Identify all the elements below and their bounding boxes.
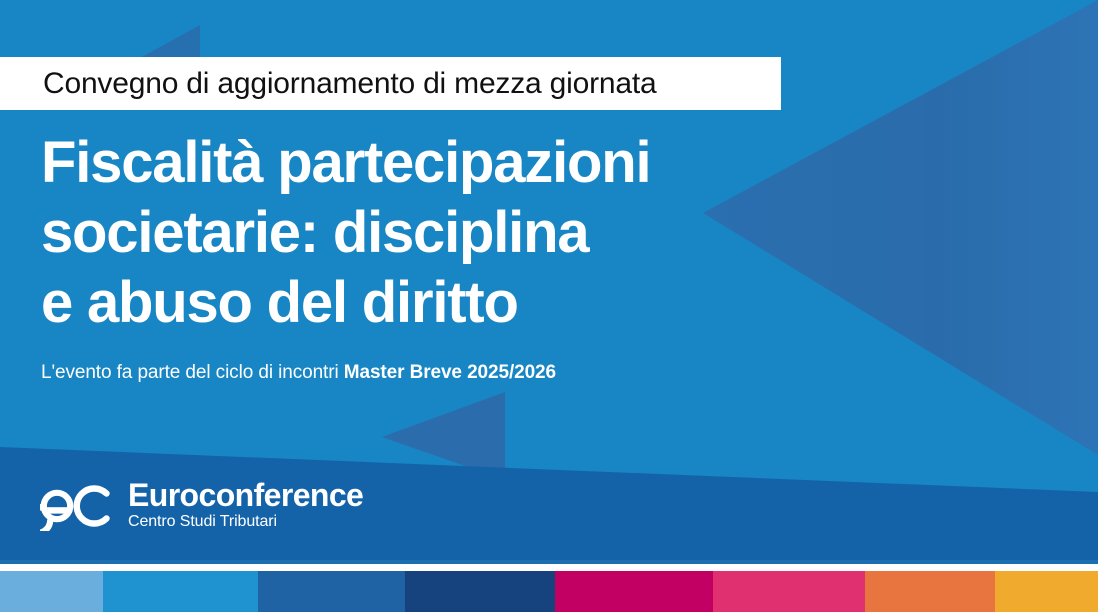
kicker-strip: Convegno di aggiornamento di mezza giorn… (0, 57, 781, 110)
band-magenta (555, 571, 713, 612)
ec-monogram-icon (40, 481, 116, 531)
strip-white-gap (0, 564, 1098, 571)
brand-logo: Euroconference Centro Studi Tributari (40, 479, 363, 533)
band-steel-blue (258, 571, 405, 612)
kicker-text: Convegno di aggiornamento di mezza giorn… (43, 69, 656, 99)
page-title: Fiscalità partecipazioni societarie: dis… (41, 128, 841, 338)
title-line-2: societarie: disciplina (41, 198, 841, 268)
band-light-blue (0, 571, 103, 612)
event-promo-banner: Convegno di aggiornamento di mezza giorn… (0, 0, 1098, 612)
brand-tagline: Centro Studi Tributari (128, 511, 363, 533)
band-navy (405, 571, 555, 612)
series-note-name: Master Breve 2025/2026 (344, 362, 556, 383)
band-cerulean (103, 571, 258, 612)
band-pink (713, 571, 865, 612)
series-note: L'evento fa parte del ciclo di incontri … (41, 363, 556, 382)
brand-name: Euroconference (128, 479, 363, 511)
series-note-prefix: L'evento fa parte del ciclo di incontri (41, 362, 344, 383)
band-amber (995, 571, 1098, 612)
title-line-1: Fiscalità partecipazioni (41, 128, 841, 198)
brand-wordmark: Euroconference Centro Studi Tributari (128, 479, 363, 533)
strip-divider (0, 560, 1098, 564)
band-orange (865, 571, 995, 612)
title-line-3: e abuso del diritto (41, 268, 841, 338)
color-band-strip (0, 571, 1098, 612)
